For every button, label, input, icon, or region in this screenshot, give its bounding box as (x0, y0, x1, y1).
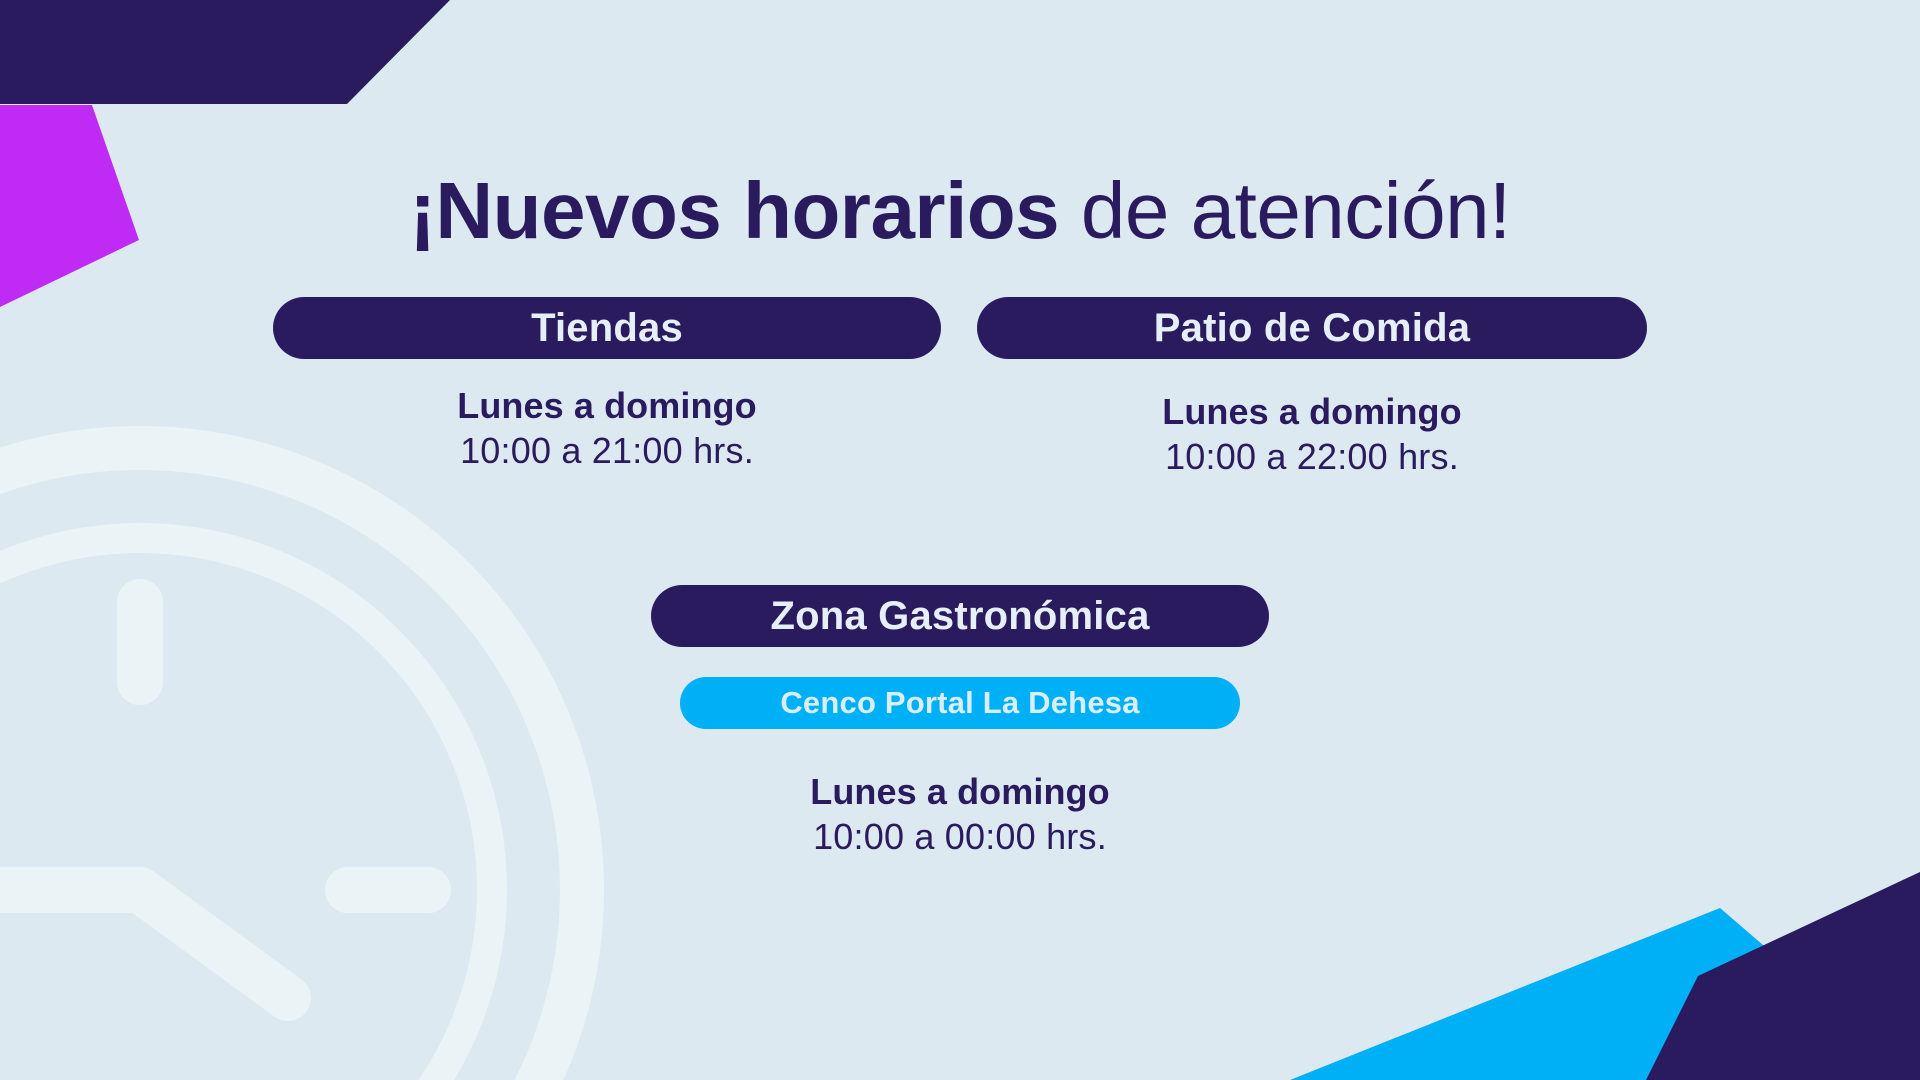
pill-patio-de-comida[interactable]: Patio de Comida (977, 297, 1647, 359)
zona-day-range: Lunes a domingo (810, 769, 1110, 814)
pill-tiendas[interactable]: Tiendas (273, 297, 941, 359)
patio-hours: 10:00 a 22:00 hrs. (1162, 434, 1462, 479)
tiendas-column: Tiendas Lunes a domingo 10:00 a 21:00 hr… (273, 297, 941, 474)
tiendas-day-range: Lunes a domingo (457, 383, 757, 428)
tiendas-schedule: Lunes a domingo 10:00 a 21:00 hrs. (457, 383, 757, 474)
schedule-columns: Tiendas Lunes a domingo 10:00 a 21:00 hr… (0, 297, 1920, 480)
tiendas-hours: 10:00 a 21:00 hrs. (457, 428, 757, 473)
poster-canvas: ¡Nuevos horarios de atención! Tiendas Lu… (0, 0, 1920, 1080)
pill-zona-gastronomica[interactable]: Zona Gastronómica (651, 585, 1269, 647)
zona-hours: 10:00 a 00:00 hrs. (810, 814, 1110, 859)
poster-content: ¡Nuevos horarios de atención! Tiendas Lu… (0, 0, 1920, 1080)
zona-gastronomica-block: Zona Gastronómica Cenco Portal La Dehesa… (0, 585, 1920, 860)
page-title-bold: ¡Nuevos horarios (409, 166, 1059, 255)
patio-column: Patio de Comida Lunes a domingo 10:00 a … (977, 297, 1647, 480)
page-title: ¡Nuevos horarios de atención! (0, 171, 1920, 251)
patio-day-range: Lunes a domingo (1162, 389, 1462, 434)
zona-schedule: Lunes a domingo 10:00 a 00:00 hrs. (810, 769, 1110, 860)
page-title-light: de atención! (1059, 166, 1511, 255)
patio-schedule: Lunes a domingo 10:00 a 22:00 hrs. (1162, 389, 1462, 480)
pill-cenco-portal-la-dehesa[interactable]: Cenco Portal La Dehesa (680, 677, 1240, 729)
